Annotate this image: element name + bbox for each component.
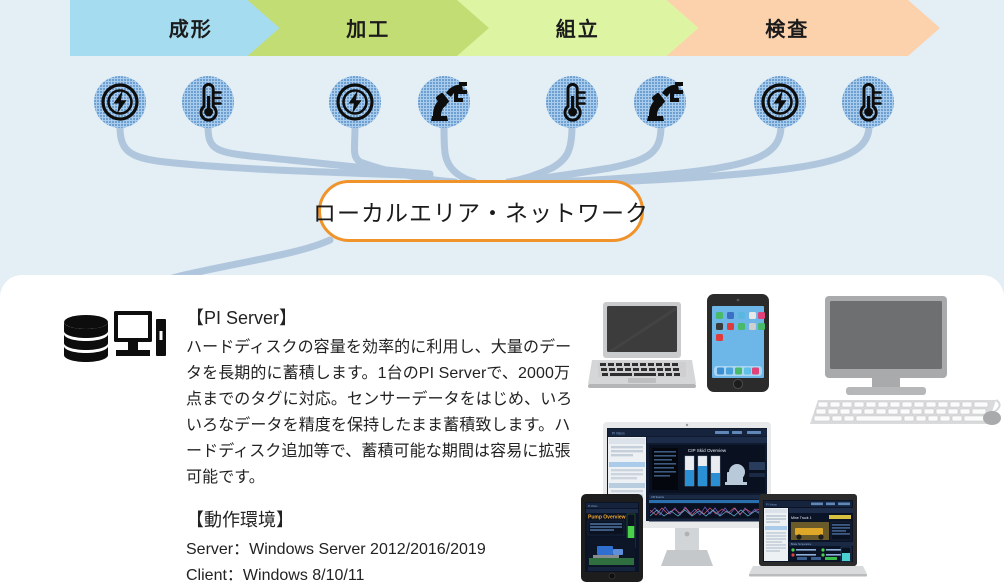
environment-server-line: Server：Windows Server 2012/2016/2019 (186, 537, 576, 563)
robot-arm-sensor[interactable] (634, 76, 686, 128)
temperature-sensor[interactable] (182, 76, 234, 128)
environment-block: 【動作環境】 Server：Windows Server 2012/2016/2… (186, 507, 576, 586)
power-sensor[interactable] (329, 76, 381, 128)
svg-text:PI Vision: PI Vision (588, 505, 598, 508)
svg-text:Brake Temperature: Brake Temperature (791, 543, 812, 546)
lan-node: ローカルエリア・ネットワーク (318, 180, 644, 242)
lan-label: ローカルエリア・ネットワーク (313, 194, 649, 228)
laptop-illustration (588, 300, 696, 392)
svg-text:Mine Truck 1: Mine Truck 1 (791, 516, 812, 520)
dashboard-device-collage: PI Vision CIP Skid Overview (575, 418, 875, 586)
environment-heading: 【動作環境】 (186, 507, 576, 533)
svg-text:Pump Overview: Pump Overview (588, 515, 626, 521)
power-sensor[interactable] (94, 76, 146, 128)
power-sensor[interactable] (754, 76, 806, 128)
desktop-monitor-illustration (810, 296, 1004, 426)
pi-server-heading: 【PI Server】 (186, 305, 576, 331)
pi-server-description: ハードディスクの容量を効率的に利用し、大量のデータを長期的に蓄積します。1台のP… (186, 335, 576, 490)
temperature-sensor[interactable] (546, 76, 598, 128)
environment-client-line: Client：Windows 8/10/11 (186, 563, 576, 586)
slide-canvas: 成形加工組立検査 (0, 0, 1004, 586)
tablet-illustration (707, 294, 769, 392)
server-description-column: 【PI Server】 ハードディスクの容量を効率的に利用し、大量のデータを長期… (186, 305, 576, 586)
svg-text:CIP Skid Overview: CIP Skid Overview (688, 448, 727, 453)
pi-server-icon (62, 305, 166, 367)
robot-arm-sensor[interactable] (418, 76, 470, 128)
svg-text:PI Vision: PI Vision (766, 503, 777, 507)
temperature-sensor[interactable] (842, 76, 894, 128)
svg-text:PI Vision: PI Vision (612, 432, 625, 436)
svg-text:CIP Events: CIP Events (651, 495, 665, 499)
